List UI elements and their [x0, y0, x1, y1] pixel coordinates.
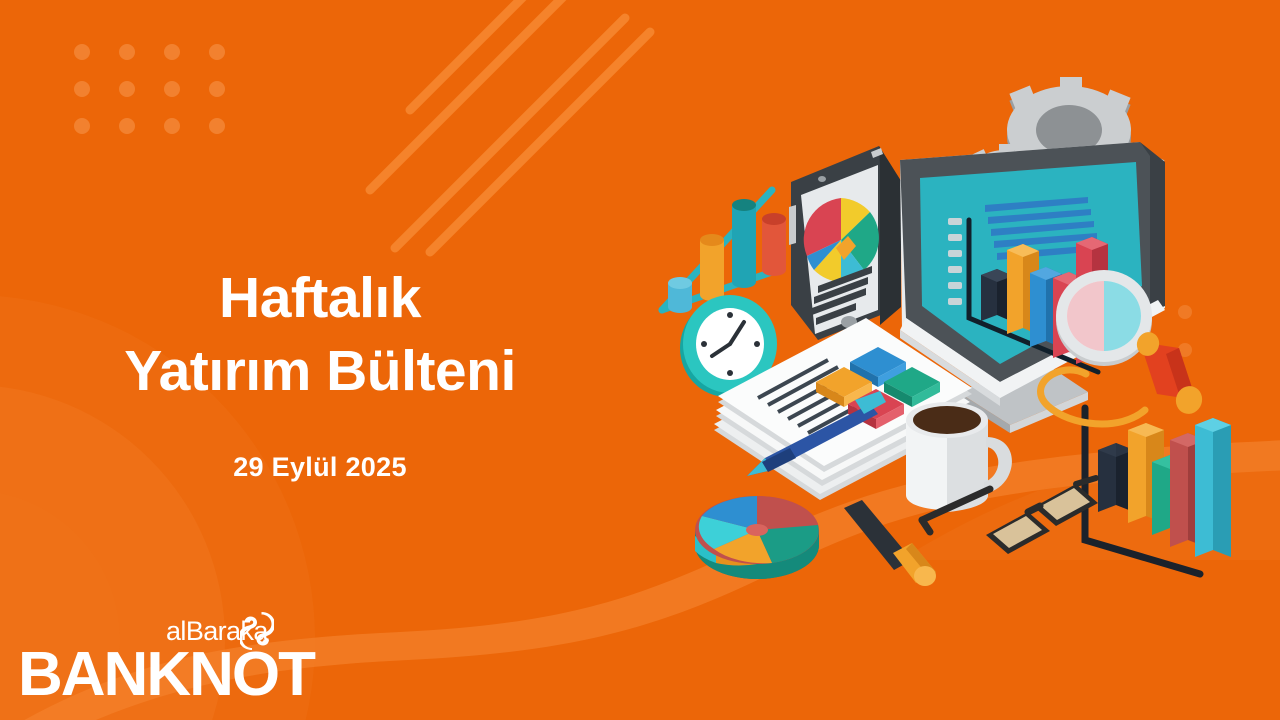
- infinity-swirl-icon: [240, 612, 274, 650]
- banner-canvas: Haftalık Yatırım Bülteni 29 Eylül 2025 a…: [0, 0, 1280, 720]
- title-line-2: Yatırım Bülteni: [0, 335, 640, 408]
- page-title: Haftalık Yatırım Bülteni: [0, 262, 640, 408]
- publication-date: 29 Eylül 2025: [0, 452, 640, 483]
- logo-banknot-text: BANKNOT: [18, 644, 314, 706]
- title-line-1: Haftalık: [0, 262, 640, 335]
